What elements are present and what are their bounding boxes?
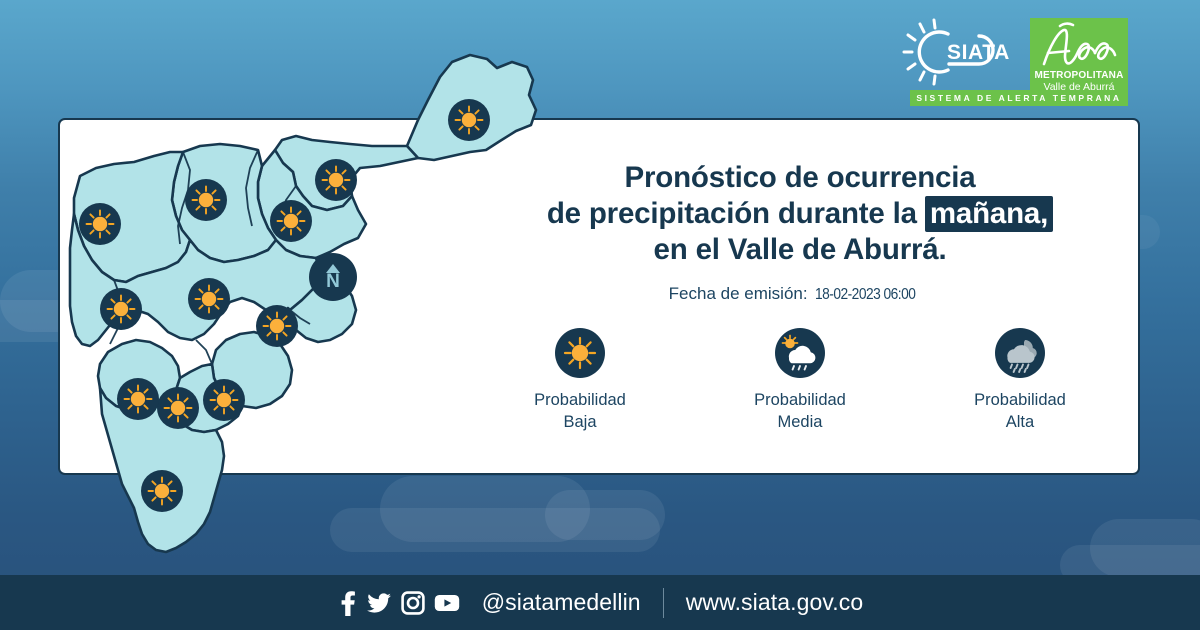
marker-medellin-n [188,278,230,320]
area-logo-line-1: METROPOLITANA [1034,70,1123,81]
social-handle[interactable]: @siatamedellin [482,589,641,616]
area-script-icon [1036,22,1122,70]
headline-line-3: en el Valle de Aburrá. [470,232,1130,268]
cloud-decoration [330,508,660,552]
compass-north-label: N [326,274,340,290]
website-url[interactable]: www.siata.gov.co [686,589,864,616]
svg-text:SIATA: SIATA [947,41,1010,64]
period-highlight-badge: mañana, [925,196,1053,232]
marker-girardota [315,159,357,201]
area-metropolitana-logo: METROPOLITANA Valle de Aburrá [1030,18,1128,100]
footer-bar: @siatamedellin www.siata.gov.co [0,575,1200,630]
marker-medellin-e [256,305,298,347]
legend-item-alta: Probabilidad Alta [925,328,1115,433]
marker-barbosa [448,99,490,141]
marker-sabaneta [117,378,159,420]
marker-medellin-w [100,288,142,330]
headline-line-1: Pronóstico de ocurrencia [470,160,1130,196]
sun-icon [555,328,605,378]
marker-la-estrella [141,470,183,512]
legend-item-media: Probabilidad Media [705,328,895,433]
forecast-panel: Pronóstico de ocurrencia de precipitació… [470,160,1130,304]
legend-label-baja: Probabilidad Baja [534,389,626,433]
rain-cloud-icon [995,328,1045,378]
sun-rain-cloud-icon [775,328,825,378]
page-title: Pronóstico de ocurrencia de precipitació… [470,160,1130,268]
headline-line-2-text: de precipitación durante la [547,197,925,230]
twitter-icon[interactable] [366,590,392,616]
instagram-icon[interactable] [401,591,425,615]
siata-logo: SIATA [902,18,1022,86]
marker-bello [185,179,227,221]
emission-date-value: 18-02-2023 06:00 [815,286,915,304]
emission-date-label: Fecha de emisión: [669,284,808,304]
social-icon-group [337,590,460,616]
siata-tagline: SISTEMA DE ALERTA TEMPRANA [910,90,1128,106]
marker-envigado [203,379,245,421]
facebook-icon[interactable] [337,590,357,616]
emission-date: Fecha de emisión: 18-02-2023 06:00 [470,284,1130,304]
compass-rose-icon: N [309,253,357,301]
legend-label-media: Probabilidad Media [754,389,846,433]
legend-item-baja: Probabilidad Baja [485,328,675,433]
logo-group: SIATA METROPOLITANA Valle de Aburrá [902,18,1128,100]
headline-line-2: de precipitación durante la mañana, [470,196,1130,232]
marker-san-pedro [79,203,121,245]
marker-copacabana [270,200,312,242]
marker-itagui [157,387,199,429]
legend-label-alta: Probabilidad Alta [974,389,1066,433]
youtube-icon[interactable] [434,593,460,613]
footer-divider [663,588,664,618]
probability-legend: Probabilidad Baja Proba [470,328,1130,433]
